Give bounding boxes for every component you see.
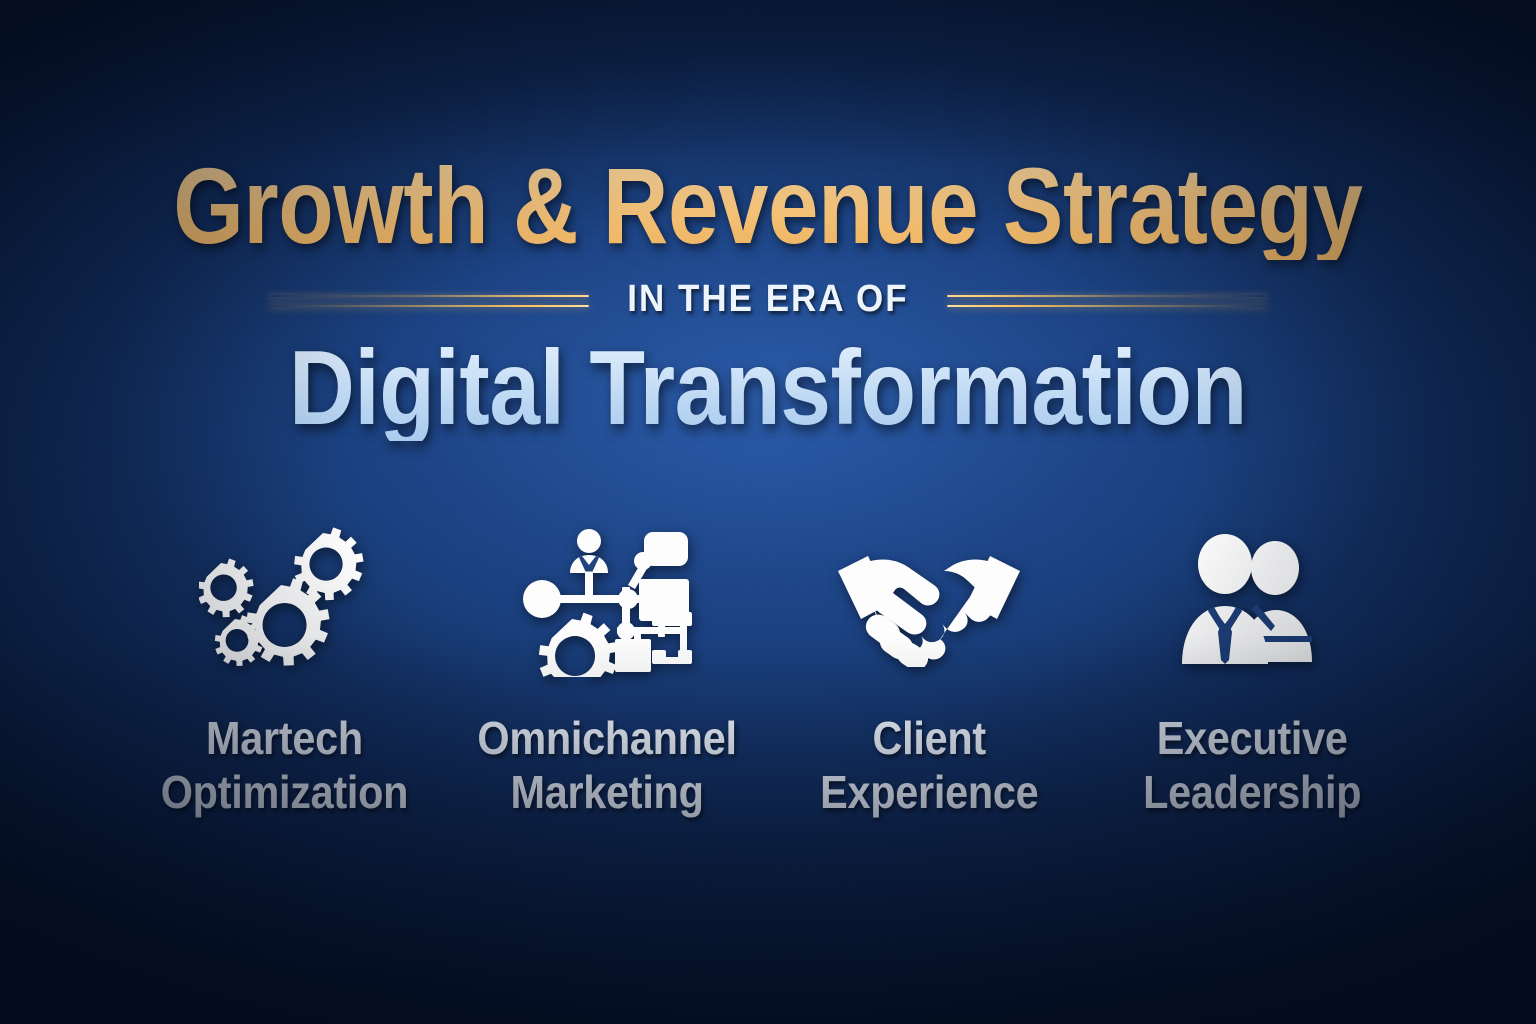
divider-line-left <box>268 290 589 310</box>
pillar-label-line2: Optimization <box>161 765 408 819</box>
pillar-martech-optimization: Martech Optimization <box>123 527 446 820</box>
pillar-label-line1: Omnichannel <box>477 712 736 764</box>
pillar-label-omnichannel-marketing: Omnichannel Marketing <box>477 711 736 820</box>
business-people-icon <box>1177 527 1327 677</box>
pillar-label-executive-leadership: Executive Leadership <box>1143 711 1361 820</box>
pillar-label-line2: Marketing <box>477 765 736 819</box>
pillar-omnichannel-marketing: Omnichannel Marketing <box>446 527 769 820</box>
pillar-label-line2: Experience <box>820 765 1038 819</box>
pillar-label-client-experience: Client Experience <box>820 711 1038 820</box>
slide-title-primary: Growth & Revenue Strategy <box>173 152 1362 260</box>
pillar-client-experience: Client Experience <box>768 527 1091 820</box>
network-nodes-icon <box>522 527 692 677</box>
pillar-label-line1: Executive <box>1156 712 1347 764</box>
pillar-executive-leadership: Executive Leadership <box>1091 527 1414 820</box>
slide-content: Growth & Revenue Strategy IN THE ERA OF … <box>0 0 1536 1024</box>
pillar-label-line1: Martech <box>206 712 363 764</box>
presentation-slide: Growth & Revenue Strategy IN THE ERA OF … <box>0 0 1536 1024</box>
gears-icon <box>199 527 369 677</box>
pillar-row: Martech Optimization <box>123 527 1413 820</box>
pillar-label-martech-optimization: Martech Optimization <box>161 711 408 820</box>
eyebrow-divider-row: IN THE ERA OF <box>268 278 1268 321</box>
slide-title-secondary: Digital Transformation <box>289 335 1247 441</box>
pillar-label-line2: Leadership <box>1143 765 1361 819</box>
pillar-label-line1: Client <box>873 712 986 764</box>
slide-eyebrow-text: IN THE ERA OF <box>603 278 932 321</box>
divider-line-right <box>947 290 1268 310</box>
handshake-icon <box>834 527 1024 677</box>
